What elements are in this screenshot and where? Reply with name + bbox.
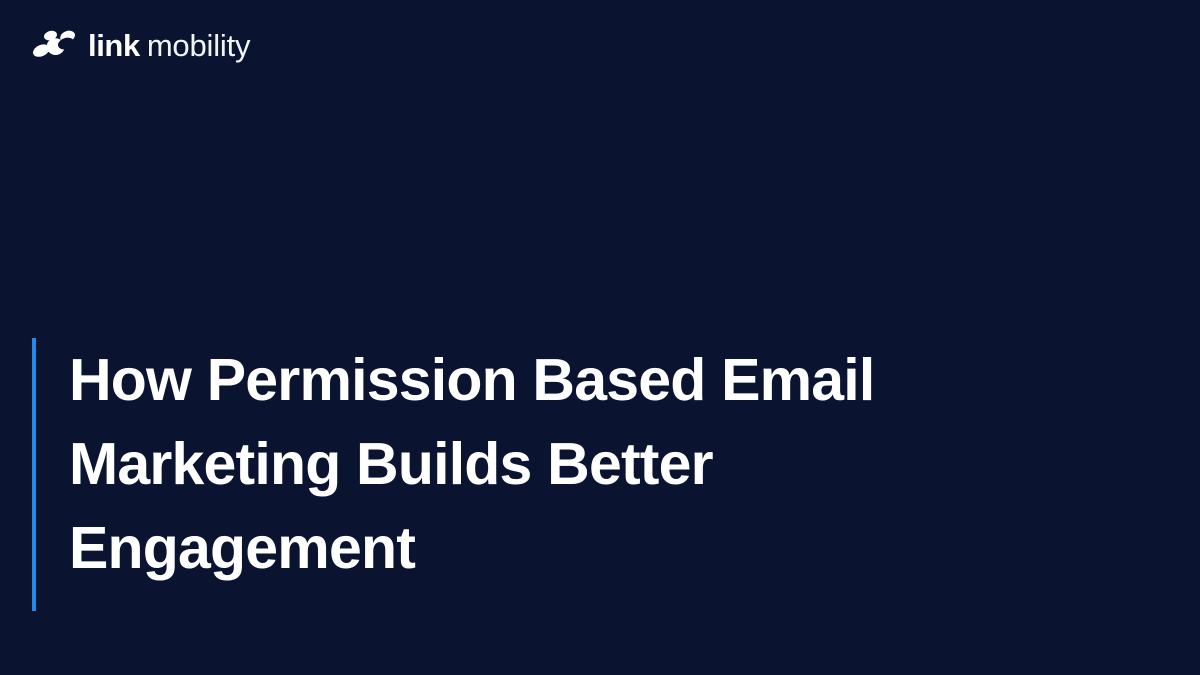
brand-word-link: link: [88, 30, 140, 61]
headline-line-1: How Permission Based Email: [69, 338, 875, 422]
headline-line-2: Marketing Builds Better: [69, 422, 875, 506]
headline-block: How Permission Based Email Marketing Bui…: [32, 338, 875, 611]
headline-text-wrap: How Permission Based Email Marketing Bui…: [36, 338, 875, 611]
title-slide: link mobility How Permission Based Email…: [0, 0, 1200, 675]
brand-wordmark: link mobility: [88, 30, 250, 61]
brand-logo: link mobility: [32, 24, 250, 66]
link-mobility-logo-mark-icon: [32, 29, 76, 61]
brand-word-mobility: mobility: [147, 30, 250, 61]
headline-line-3: Engagement: [69, 506, 875, 590]
page-title: How Permission Based Email Marketing Bui…: [69, 338, 875, 590]
